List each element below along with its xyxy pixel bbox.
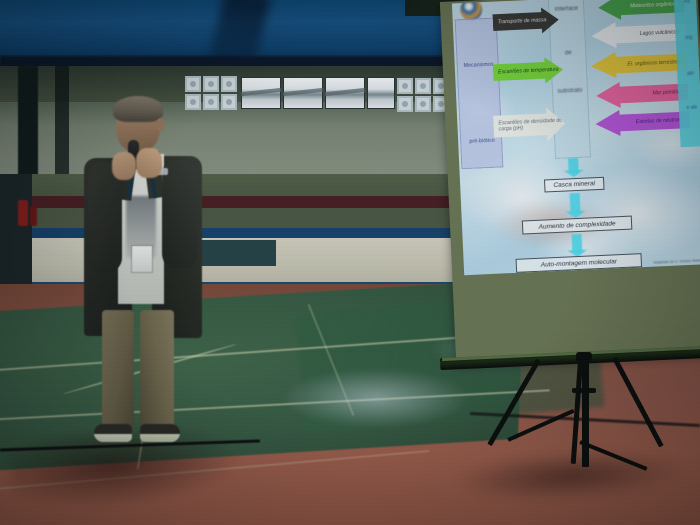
hand-left	[112, 152, 136, 180]
shoe-right	[140, 424, 180, 442]
pillar-secondary	[55, 66, 69, 176]
slide-right-line-1: Fo	[675, 0, 699, 5]
glass-block	[415, 96, 431, 112]
floor-reflection	[280, 368, 470, 428]
window-pane	[367, 77, 395, 109]
arm-right	[162, 160, 198, 268]
tripod-head-clamp	[576, 352, 592, 362]
photo-scene: Mecanismos pré-biótico Interface de subs…	[0, 0, 700, 525]
shoe-left	[94, 424, 132, 442]
decorative-block-window	[185, 76, 450, 112]
wall-recess	[196, 240, 276, 266]
flow-box-casca-mineral: Casca mineral	[544, 177, 605, 193]
slide-center-line-de: de	[550, 49, 586, 57]
lanyard-badge	[132, 246, 152, 272]
glass-block	[415, 78, 431, 94]
fire-extinguisher	[18, 200, 28, 226]
glass-block	[221, 76, 237, 92]
projection-screen: Mecanismos pré-biótico Interface de subs…	[440, 0, 700, 368]
trouser-leg-right	[140, 310, 174, 432]
hand-right	[136, 148, 162, 178]
glass-block	[185, 76, 201, 92]
slide-right-line-2: org	[677, 34, 700, 41]
slide-right-line-3: abi	[678, 70, 700, 77]
glass-block	[397, 78, 413, 94]
slide-left-label-prebiotico: pré-biótico	[462, 137, 502, 145]
flow-connector-2	[570, 193, 581, 213]
flow-connector-1	[568, 158, 579, 172]
wall-stripe-maroon	[0, 196, 470, 208]
slide-center-column: Interface de substrato	[548, 0, 591, 159]
fire-extinguisher-secondary	[30, 206, 37, 226]
slide-center-line-substrato: substrato	[552, 87, 588, 95]
glass-block	[203, 76, 219, 92]
glass-block	[397, 96, 413, 112]
speaker-person	[78, 96, 206, 448]
slide-center-line-interface: Interface	[548, 5, 584, 13]
slide-left-column: Mecanismos pré-biótico	[455, 17, 504, 169]
hair	[113, 96, 163, 122]
projected-slide: Mecanismos pré-biótico Interface de subs…	[452, 0, 700, 275]
ear	[156, 118, 165, 131]
glass-block	[221, 94, 237, 110]
doorway-opening	[0, 174, 32, 292]
tripod-collar	[572, 388, 596, 393]
flow-connector-3	[572, 234, 583, 252]
lower-wall-green-2	[0, 208, 470, 230]
tripod-center-post	[582, 357, 589, 467]
trouser-leg-left	[102, 310, 134, 432]
slide-right-line-4: e ale	[680, 104, 700, 111]
pillar	[18, 66, 38, 176]
